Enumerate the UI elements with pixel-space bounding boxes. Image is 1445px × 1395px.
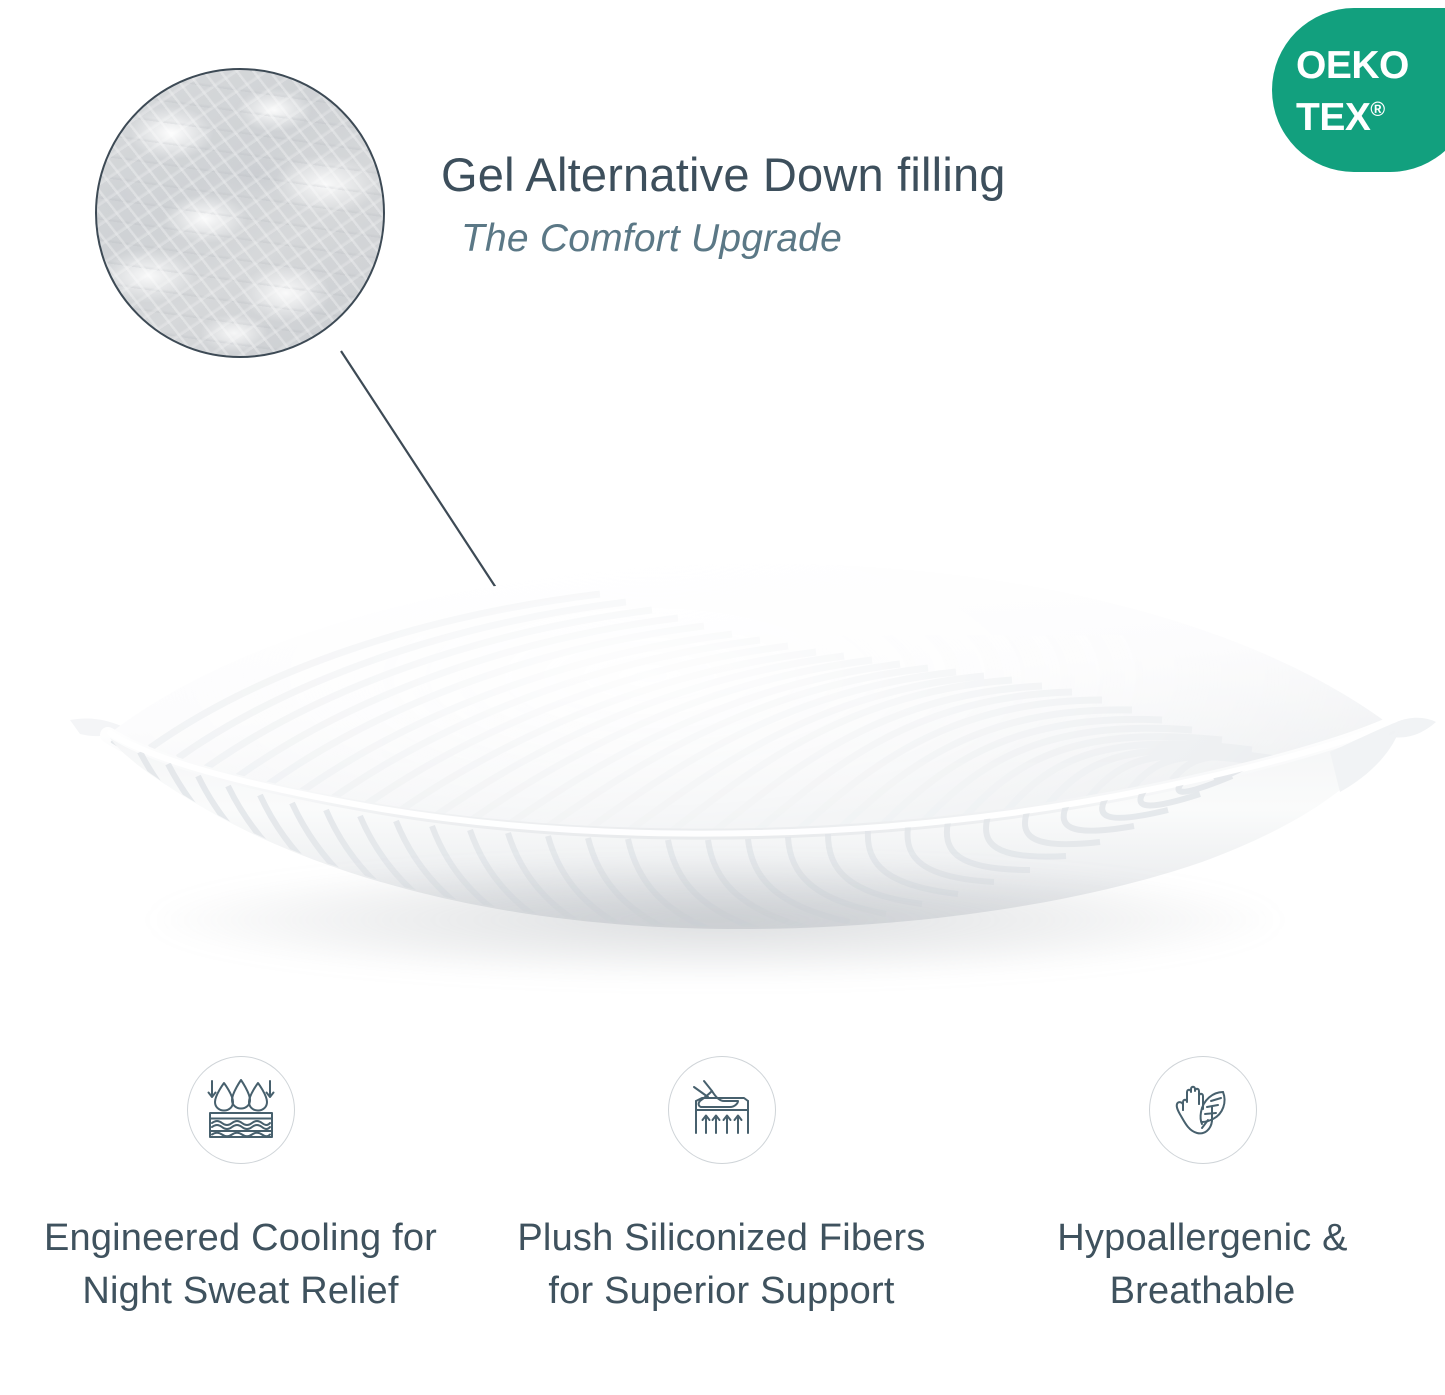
- head-on-pillow-support-icon: [686, 1077, 758, 1143]
- page-subtitle: The Comfort Upgrade: [461, 216, 842, 262]
- oeko-tex-line2: TEX®: [1296, 88, 1445, 140]
- oeko-tex-badge: OEKO TEX®: [1272, 8, 1445, 172]
- feature-item-cooling: Engineered Cooling for Night Sweat Relie…: [0, 1056, 481, 1318]
- water-droplets-on-fabric-icon: [204, 1077, 278, 1143]
- fiber-texture: [95, 68, 385, 358]
- feature-icon-circle: [1149, 1056, 1257, 1164]
- feature-caption: Plush Siliconized Fibers for Superior Su…: [512, 1212, 932, 1318]
- feature-item-support: Plush Siliconized Fibers for Superior Su…: [481, 1056, 962, 1318]
- product-shadow: [150, 860, 1280, 980]
- oeko-tex-line1: OEKO: [1296, 44, 1409, 87]
- oeko-tex-badge-text: OEKO TEX®: [1296, 44, 1445, 140]
- feature-item-hypoallergenic: Hypoallergenic & Breathable: [962, 1056, 1443, 1318]
- hand-with-feather-icon: [1169, 1076, 1237, 1144]
- feature-caption: Engineered Cooling for Night Sweat Relie…: [31, 1212, 451, 1318]
- product-infographic: OEKO TEX® Gel Alternative Down filling T…: [0, 0, 1445, 1395]
- product-image: [0, 520, 1445, 1040]
- feature-icon-circle: [668, 1056, 776, 1164]
- fiber-fill-magnifier: [95, 68, 385, 358]
- feature-caption: Hypoallergenic & Breathable: [993, 1212, 1413, 1318]
- page-title: Gel Alternative Down filling: [441, 148, 1006, 202]
- feature-list: Engineered Cooling for Night Sweat Relie…: [0, 1056, 1445, 1318]
- registered-trademark-icon: ®: [1370, 99, 1385, 121]
- feature-icon-circle: [187, 1056, 295, 1164]
